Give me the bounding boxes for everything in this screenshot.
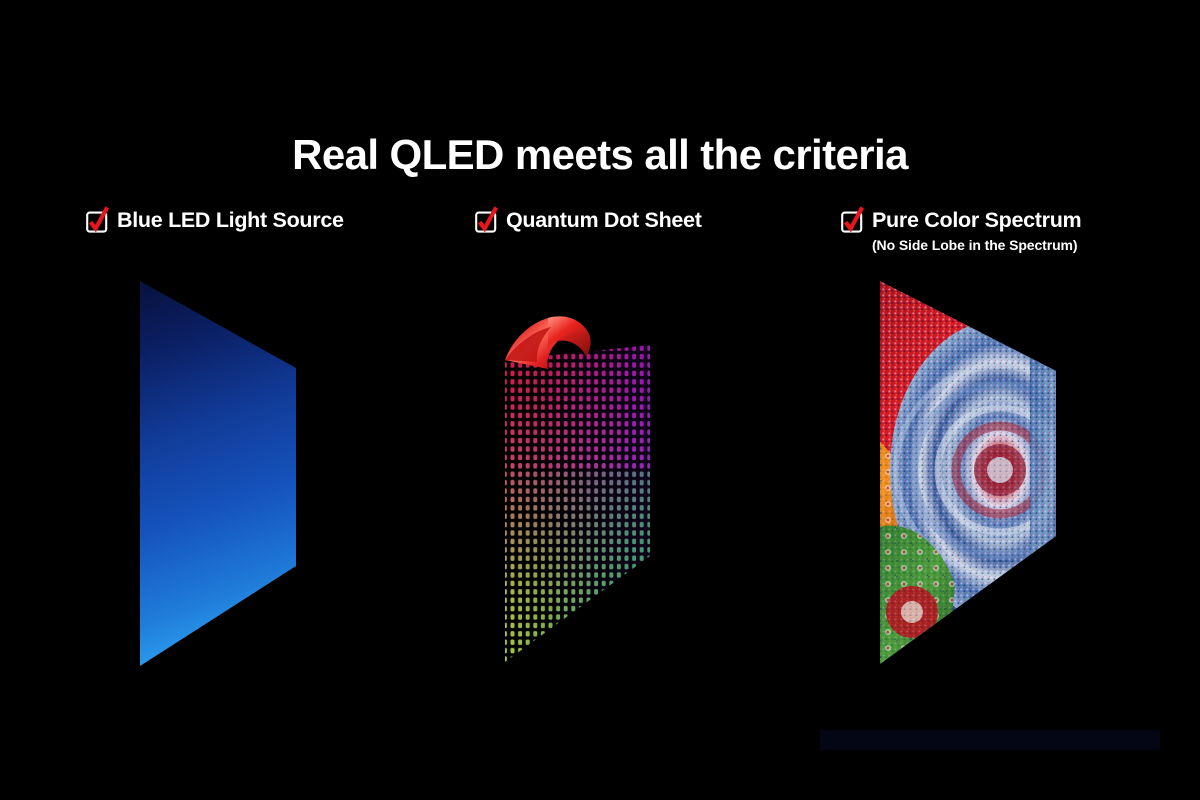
blue-led-panel-visual: [140, 281, 296, 666]
quantum-dot-sheet-visual: [495, 316, 660, 675]
visual-stage: [0, 0, 1200, 800]
faint-bottom-band: [820, 730, 1160, 750]
pure-color-spectrum-visual: [870, 275, 1110, 690]
